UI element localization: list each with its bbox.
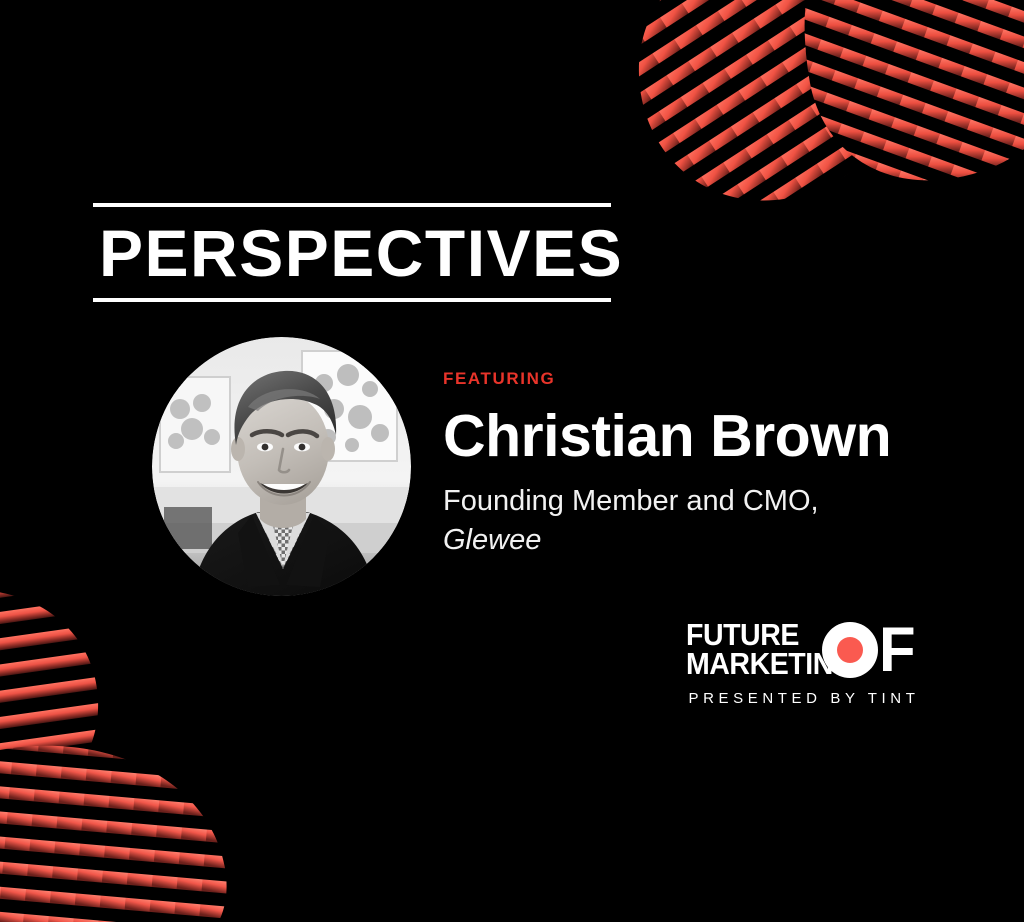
logo-letter-f: F	[879, 622, 914, 678]
page-title: PERSPECTIVES	[93, 207, 611, 298]
striped-blob-bottom-left	[0, 550, 320, 922]
logo-of-group: F	[822, 622, 915, 678]
page-title-block: PERSPECTIVES	[93, 203, 611, 302]
speaker-portrait	[152, 337, 411, 596]
featuring-label: FEATURING	[443, 369, 943, 389]
brand-logo: FUTURE MARKETING F PRESENTED BY TINT	[686, 621, 926, 707]
perspectives-promo-card: PERSPECTIVES	[0, 0, 1024, 922]
striped-blob-top-right	[610, 0, 1024, 238]
logo-letter-o-icon	[822, 622, 878, 678]
feature-block: FEATURING Christian Brown Founding Membe…	[443, 369, 943, 559]
speaker-name: Christian Brown	[443, 406, 943, 468]
logo-mark: FUTURE MARKETING F	[686, 621, 926, 679]
speaker-title: Founding Member and CMO,	[443, 482, 943, 520]
logo-red-dot-icon	[837, 637, 863, 663]
logo-presented-by: PRESENTED BY TINT	[686, 690, 922, 707]
speaker-company: Glewee	[443, 521, 943, 559]
title-rule-bottom	[93, 298, 611, 302]
